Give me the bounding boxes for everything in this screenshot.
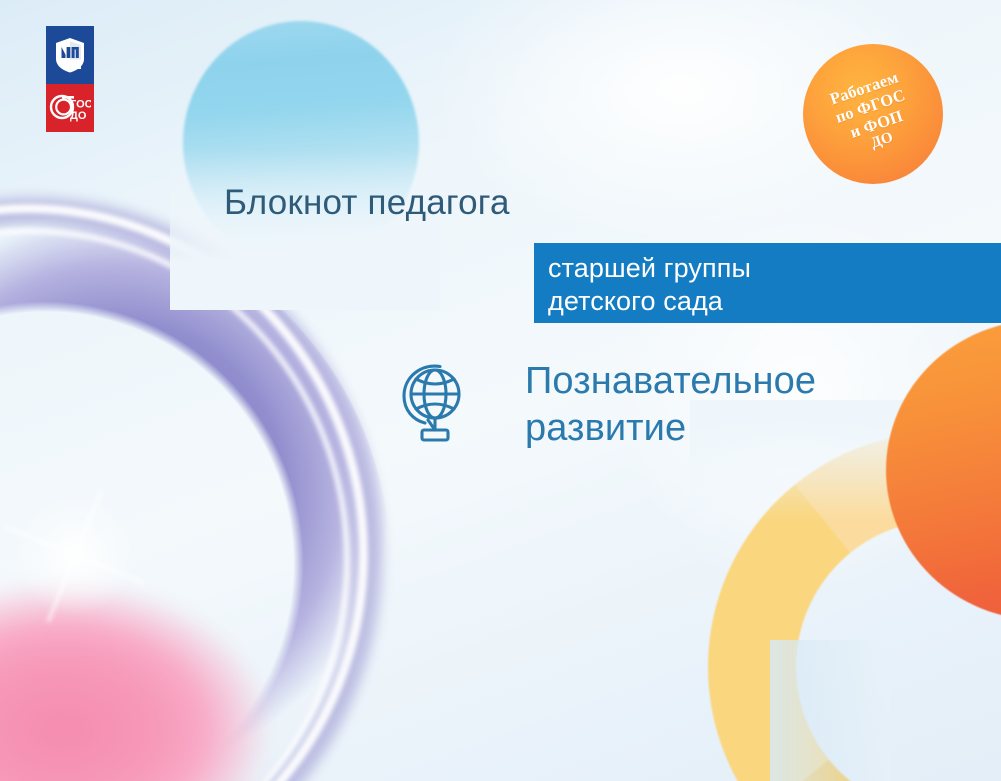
decorative-sparkle — [0, 470, 160, 640]
cover-title: Блокнот педагога — [224, 184, 510, 223]
publisher-logo-top — [46, 26, 94, 84]
decorative-pale-column — [770, 640, 890, 781]
svg-text:ДО: ДО — [70, 110, 87, 122]
prosveshchenie-shield-icon — [46, 26, 94, 84]
globe-icon — [394, 358, 466, 450]
decorative-blue-circle-fade — [170, 150, 440, 310]
subject-title: Познавательное развитие — [525, 358, 816, 451]
fgos-do-icon: ГОС ДО — [46, 84, 94, 132]
audience-banner-text: старшей группы детского сада — [548, 252, 751, 318]
publisher-logo: ГОС ДО — [46, 26, 94, 132]
publisher-logo-bottom: ГОС ДО — [46, 84, 94, 132]
book-cover: ГОС ДО Работаем по ФГОС и ФОП ДО Блокнот… — [0, 0, 1001, 781]
audience-banner: старшей группы детского сада — [534, 243, 1001, 323]
fgos-fop-seal-badge: Работаем по ФГОС и ФОП ДО — [803, 44, 943, 184]
svg-text:ГОС: ГОС — [70, 98, 91, 110]
